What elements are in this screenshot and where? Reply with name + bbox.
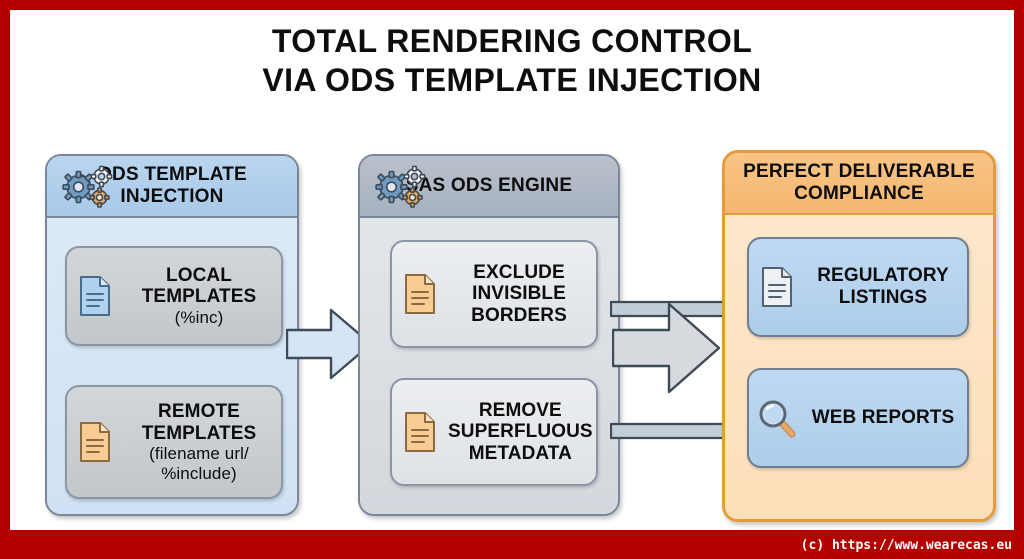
card-title: REMOVE SUPERFLUOUS METADATA (448, 400, 593, 464)
arrow-engine-to-compliance-icon (612, 302, 720, 394)
panel-body-ods-template-injection: LOCAL TEMPLATES (%inc) (47, 218, 297, 514)
card-local-templates-label: LOCAL TEMPLATES (%inc) (123, 265, 281, 328)
card-regulatory-listings[interactable]: REGULATORY LISTINGS (747, 237, 969, 337)
panel-header-sas-ods-engine: SAS ODS ENGINE (360, 156, 618, 218)
card-web-reports-label: WEB REPORTS (805, 407, 967, 429)
card-title: REMOTE TEMPLATES (142, 401, 257, 444)
page-title-line-1: TOTAL RENDERING CONTROL (10, 22, 1014, 61)
document-blue-icon (67, 275, 123, 317)
card-remove-superfluous-metadata[interactable]: REMOVE SUPERFLUOUS METADATA (390, 378, 598, 486)
panel-body-perfect-deliverable-compliance: REGULATORY LISTINGS WEB REPORTS (725, 215, 993, 519)
card-subtitle: (filename url/ %include) (123, 444, 275, 483)
page-title: TOTAL RENDERING CONTROL VIA ODS TEMPLATE… (10, 22, 1014, 100)
panel-header-perfect-deliverable-compliance: PERFECT DELIVERABLE COMPLIANCE (725, 153, 993, 215)
panel-ods-template-injection[interactable]: ODS TEMPLATE INJECTION (45, 154, 299, 516)
card-title: EXCLUDE INVISIBLE BORDERS (471, 262, 567, 326)
card-title: WEB REPORTS (812, 407, 955, 428)
page-title-line-2: VIA ODS TEMPLATE INJECTION (10, 61, 1014, 100)
card-local-templates[interactable]: LOCAL TEMPLATES (%inc) (65, 246, 283, 346)
panel-header-label: SAS ODS ENGINE (406, 175, 572, 197)
card-title: REGULATORY LISTINGS (817, 265, 949, 308)
gears-icon (374, 164, 430, 210)
card-title: LOCAL TEMPLATES (142, 265, 257, 308)
document-orange-icon (67, 421, 123, 463)
magnifier-icon (749, 397, 805, 439)
panel-header-ods-template-injection: ODS TEMPLATE INJECTION (47, 156, 297, 218)
panel-header-label: PERFECT DELIVERABLE COMPLIANCE (733, 161, 985, 205)
document-gray-icon (749, 266, 805, 308)
footer-copyright: (c) https://www.wearecas.eu (801, 538, 1012, 553)
card-remote-templates-label: REMOTE TEMPLATES (filename url/ %include… (123, 401, 281, 483)
card-remove-superfluous-metadata-label: REMOVE SUPERFLUOUS METADATA (448, 400, 599, 465)
gears-icon (61, 164, 117, 210)
panel-perfect-deliverable-compliance[interactable]: PERFECT DELIVERABLE COMPLIANCE (722, 150, 996, 522)
card-exclude-invisible-borders[interactable]: EXCLUDE INVISIBLE BORDERS (390, 240, 598, 348)
document-orange-icon (392, 273, 448, 315)
card-subtitle: (%inc) (123, 308, 275, 327)
card-remote-templates[interactable]: REMOTE TEMPLATES (filename url/ %include… (65, 385, 283, 499)
card-exclude-invisible-borders-label: EXCLUDE INVISIBLE BORDERS (448, 262, 596, 327)
diagram-canvas: TOTAL RENDERING CONTROL VIA ODS TEMPLATE… (10, 10, 1014, 530)
panel-body-sas-ods-engine: EXCLUDE INVISIBLE BORDERS (360, 218, 618, 514)
card-web-reports[interactable]: WEB REPORTS (747, 368, 969, 468)
document-orange-icon (392, 411, 448, 453)
panel-sas-ods-engine[interactable]: SAS ODS ENGINE EXCLUDE INV (358, 154, 620, 516)
card-regulatory-listings-label: REGULATORY LISTINGS (805, 265, 967, 308)
